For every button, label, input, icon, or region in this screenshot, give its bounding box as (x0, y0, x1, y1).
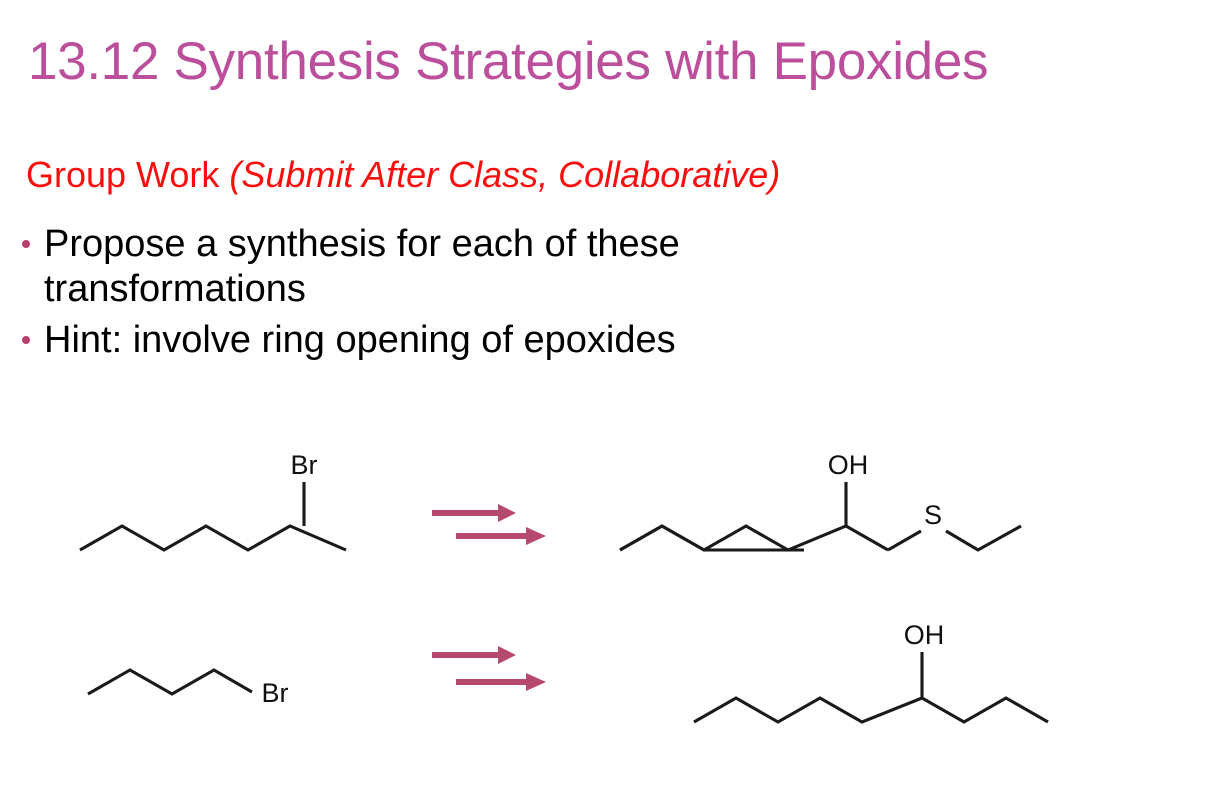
atom-label-br: Br (262, 678, 289, 708)
bullet-list: Propose a synthesis for each of these tr… (22, 222, 1022, 368)
reaction-arrows-1 (432, 504, 546, 545)
list-item: Propose a synthesis for each of these tr… (22, 222, 1022, 312)
subtitle-lead: Group Work (26, 154, 229, 195)
reaction-arrow (456, 673, 546, 691)
list-item: Hint: involve ring opening of epoxides (22, 318, 1022, 363)
bullet-text: Hint: involve ring opening of epoxides (44, 318, 676, 363)
reaction-scheme: Br OH (0, 424, 1212, 784)
carbon-skeleton (620, 526, 888, 550)
carbon-skeleton (88, 670, 252, 694)
bullet-dot-icon (22, 318, 44, 344)
bullet-dot-icon (22, 222, 44, 248)
reactant-structure-1-bromobutane: Br (88, 670, 289, 708)
atom-label-br: Br (291, 450, 318, 480)
reaction-2: Br OH (88, 620, 1048, 722)
product-structure-ethylthio-heptanol: OH S (620, 450, 1021, 550)
reaction-1: Br OH (80, 450, 1021, 550)
reactant-structure-2-bromoheptane: Br (80, 450, 346, 550)
reaction-arrow (432, 504, 516, 522)
reaction-scheme-svg: Br OH (0, 424, 1212, 784)
slide-canvas: 13.12 Synthesis Strategies with Epoxides… (0, 0, 1212, 800)
atom-label-s: S (924, 500, 942, 530)
atom-label-oh: OH (828, 450, 869, 480)
sulfur-ethyl-bond (946, 526, 1021, 550)
subtitle-parenthetical: (Submit After Class, Collaborative) (229, 154, 780, 195)
reaction-arrow (456, 527, 546, 545)
bullet-text: Propose a synthesis for each of these tr… (44, 222, 874, 312)
subtitle-line: Group Work (Submit After Class, Collabor… (26, 155, 780, 195)
atom-label-oh: OH (904, 620, 945, 650)
reaction-arrows-2 (432, 646, 546, 691)
page-title: 13.12 Synthesis Strategies with Epoxides (28, 34, 988, 90)
carbon-sulfur-bond (888, 531, 921, 550)
carbon-skeleton (80, 526, 346, 550)
product-structure-nonan-4-ol: OH (694, 620, 1048, 722)
reaction-arrow (432, 646, 516, 664)
carbon-skeleton (694, 698, 1048, 722)
